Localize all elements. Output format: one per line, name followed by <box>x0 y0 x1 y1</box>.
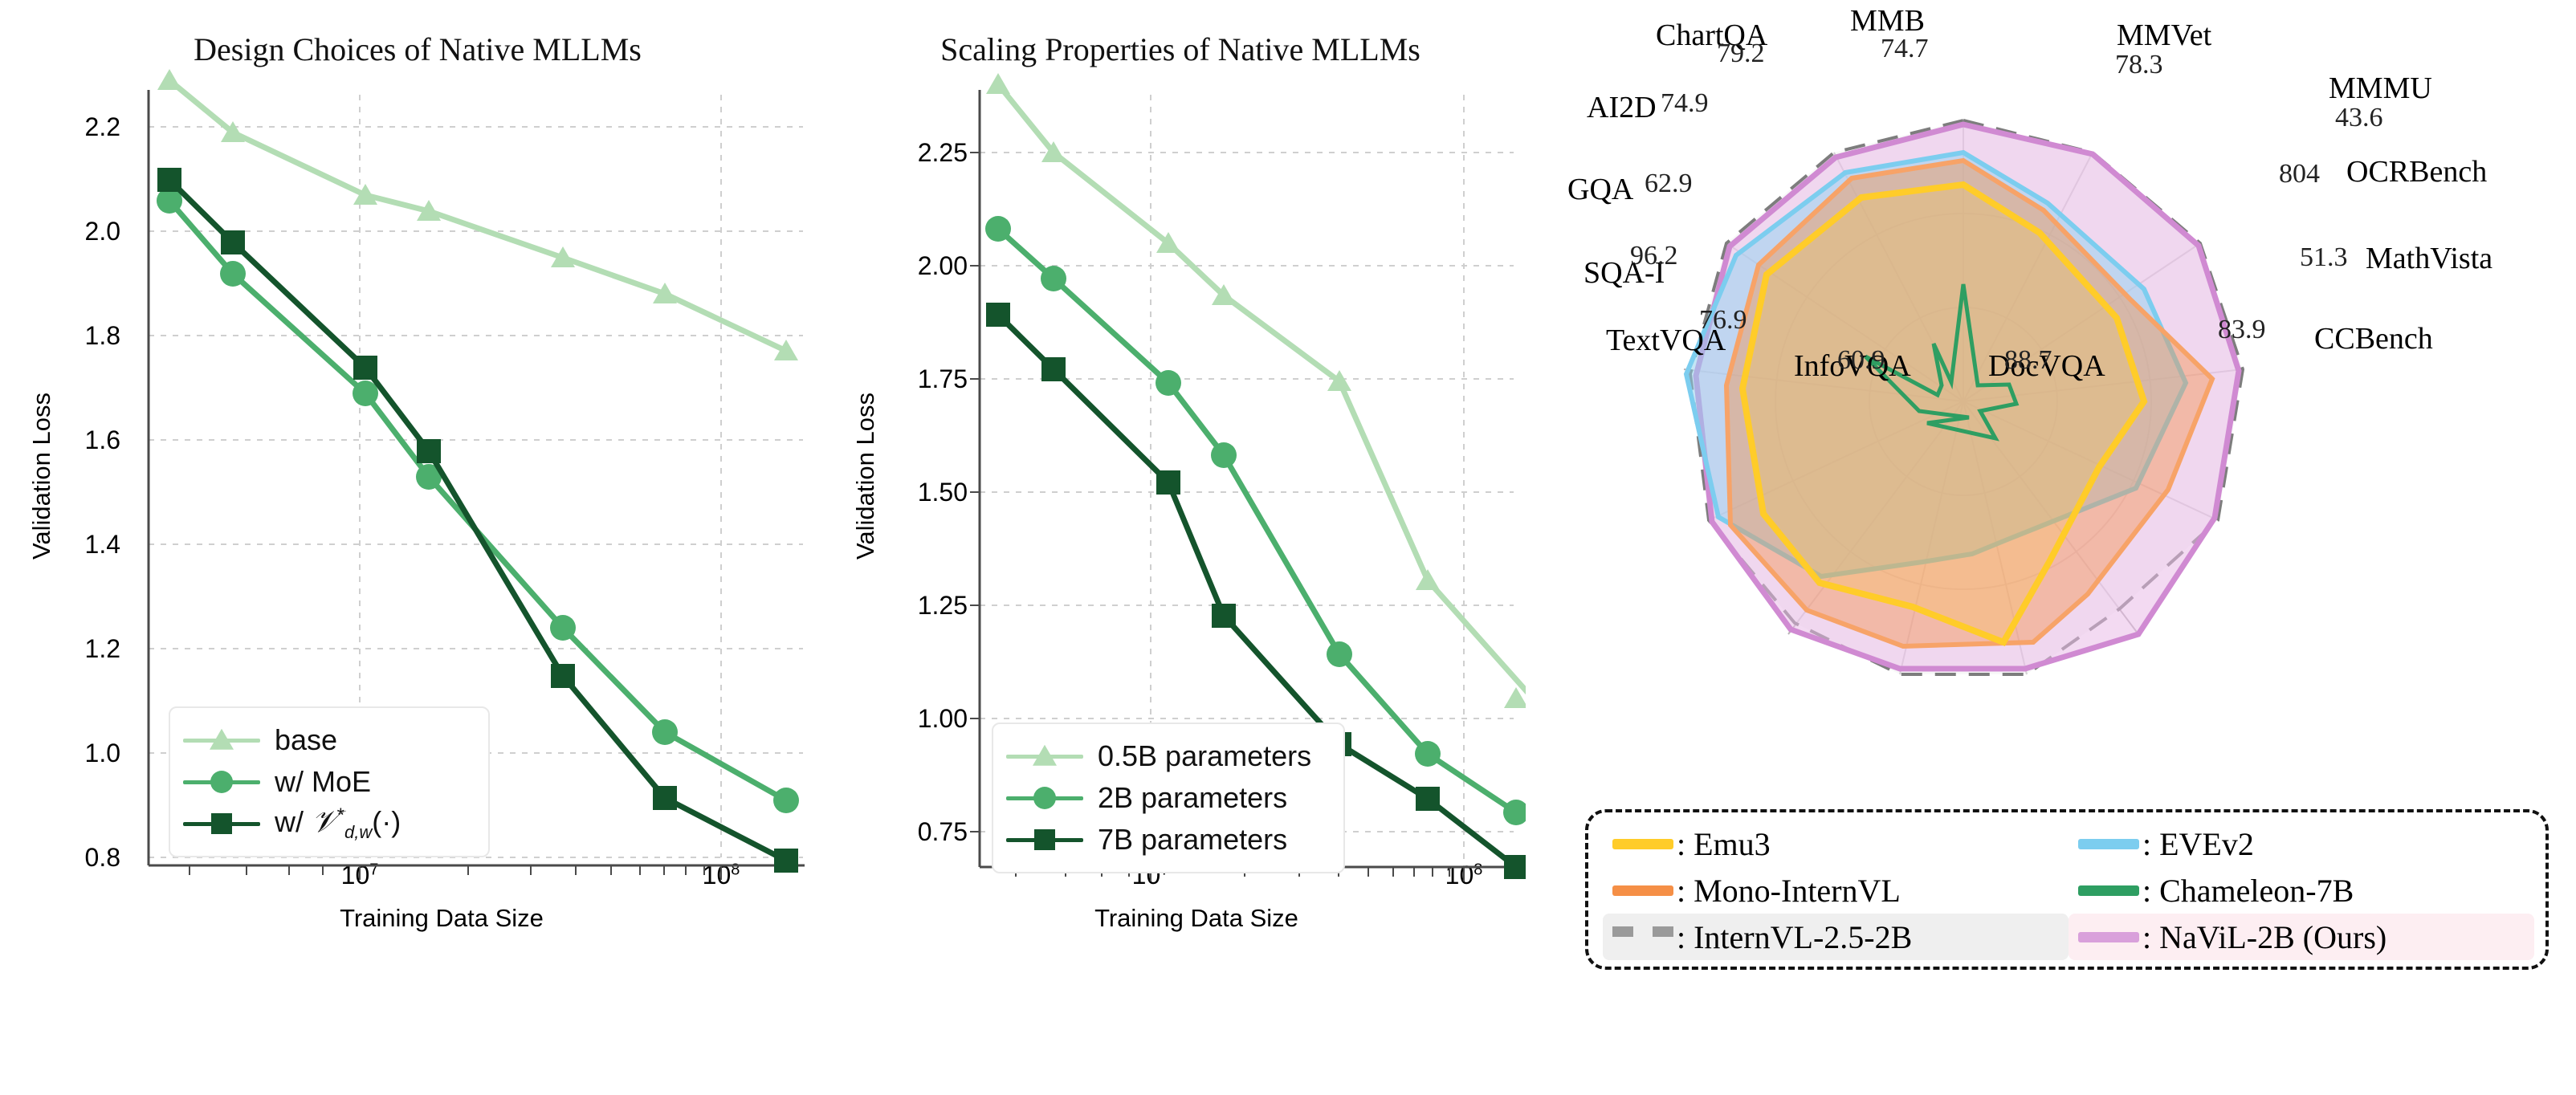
color-swatch-chameleon <box>2078 885 2139 896</box>
radar-axis-value-infovqa: 60.9 <box>1837 345 1885 376</box>
radar-plot <box>1526 0 2576 819</box>
radar-axis-value-ocrbench: 804 <box>2279 159 2320 189</box>
legend-label: : EVEv2 <box>2142 825 2254 863</box>
legend-mid: 0.5B parameters 2B parameters 7B paramet… <box>992 723 1345 873</box>
color-swatch-evev2 <box>2078 839 2139 849</box>
legend-label: w/ 𝒱*d,w(·) <box>260 804 401 843</box>
legend-marker-circle <box>183 761 260 803</box>
series-base <box>157 69 798 360</box>
legend-item-emu3[interactable]: : Emu3 <box>1603 820 2069 867</box>
radar-axis-label-ocrbench: OCRBench <box>2346 154 2487 189</box>
legend-label: base <box>260 723 337 757</box>
legend-item[interactable]: w/ MoE <box>183 761 471 803</box>
radar-axis-value-sqai: 96.2 <box>1630 241 1678 271</box>
color-swatch-navil <box>2078 932 2139 942</box>
legend-marker-triangle <box>1006 735 1083 777</box>
legend-item-chameleon[interactable]: : Chameleon-7B <box>2069 867 2534 914</box>
radar-axis-value-mathvista: 51.3 <box>2300 242 2348 273</box>
legend-item-evev2[interactable]: : EVEv2 <box>2069 820 2534 867</box>
legend-item-mono-internvl[interactable]: : Mono-InternVL <box>1603 867 2069 914</box>
panel-benchmark-radar: MMB MMVet MMMU OCRBench MathVista CCBenc… <box>1526 0 2576 1095</box>
y-minor-ticks <box>970 153 980 832</box>
legend-label: : InternVL-2.5-2B <box>1677 918 1912 956</box>
radar-axis-label-mmmu: MMMU <box>2329 71 2432 106</box>
radar-axis-label-ai2d: AI2D <box>1587 90 1657 125</box>
legend-label: : Mono-InternVL <box>1677 872 1901 910</box>
legend-marker-circle <box>1006 777 1083 819</box>
color-swatch-internvl25 <box>1612 926 1673 947</box>
radar-axis-value-ai2d: 74.9 <box>1661 88 1709 119</box>
figure-root: Design Choices of Native MLLMs Validatio… <box>0 0 2576 1095</box>
color-swatch-emu3 <box>1612 839 1673 849</box>
radar-axis-label-gqa: GQA <box>1567 172 1633 207</box>
radar-axis-value-mmmu: 43.6 <box>2335 103 2383 133</box>
legend-item[interactable]: base <box>183 719 471 761</box>
x-minor-ticks <box>190 865 721 880</box>
legend-label: : Chameleon-7B <box>2142 872 2354 910</box>
legend-label: 0.5B parameters <box>1083 739 1311 773</box>
legend-item-navil[interactable]: : NaViL-2B (Ours) <box>2069 914 2534 960</box>
legend-marker-triangle <box>183 719 260 761</box>
radar-axis-label-ccbench: CCBench <box>2314 321 2433 356</box>
plot-area-mid <box>835 0 1526 1095</box>
panel-scaling-properties: Scaling Properties of Native MLLMs Valid… <box>835 0 1526 1095</box>
legend-left: base w/ MoE w/ 𝒱*d,w(·) <box>169 706 490 857</box>
radar-axis-value-mmb: 74.7 <box>1881 34 1929 64</box>
radar-axis-value-ccbench: 83.9 <box>2218 315 2266 345</box>
series-0-5b <box>986 73 1526 708</box>
radar-axis-value-mmvet: 78.3 <box>2115 50 2163 80</box>
radar-axis-value-gqa: 62.9 <box>1645 169 1693 199</box>
legend-label: : NaViL-2B (Ours) <box>2142 918 2386 956</box>
radar-legend: : Emu3 : EVEv2 : Mono-InternVL : Chamele… <box>1585 809 2549 970</box>
legend-label: 7B parameters <box>1083 823 1287 857</box>
radar-axis-value-textvqa: 76.9 <box>1699 305 1747 336</box>
legend-item[interactable]: w/ 𝒱*d,w(·) <box>183 803 471 845</box>
legend-marker-square <box>1006 819 1083 861</box>
legend-item-internvl25[interactable]: : InternVL-2.5-2B <box>1603 914 2069 960</box>
radar-axis-value-docvqa: 88.7 <box>2004 345 2052 376</box>
plot-area-left <box>0 0 835 1095</box>
legend-marker-square <box>183 803 260 845</box>
legend-item[interactable]: 0.5B parameters <box>1006 735 1326 777</box>
color-swatch-mono-internvl <box>1612 885 1673 896</box>
legend-label: 2B parameters <box>1083 781 1287 815</box>
legend-label: : Emu3 <box>1677 825 1771 863</box>
legend-item[interactable]: 2B parameters <box>1006 777 1326 819</box>
radar-axis-label-mathvista: MathVista <box>2366 241 2492 276</box>
radar-axis-label-mmvet: MMVet <box>2117 18 2211 53</box>
legend-label: w/ MoE <box>260 765 371 799</box>
panel-design-choices: Design Choices of Native MLLMs Validatio… <box>0 0 835 1095</box>
radar-axis-value-chartqa: 79.2 <box>1717 39 1765 69</box>
legend-item[interactable]: 7B parameters <box>1006 819 1326 861</box>
